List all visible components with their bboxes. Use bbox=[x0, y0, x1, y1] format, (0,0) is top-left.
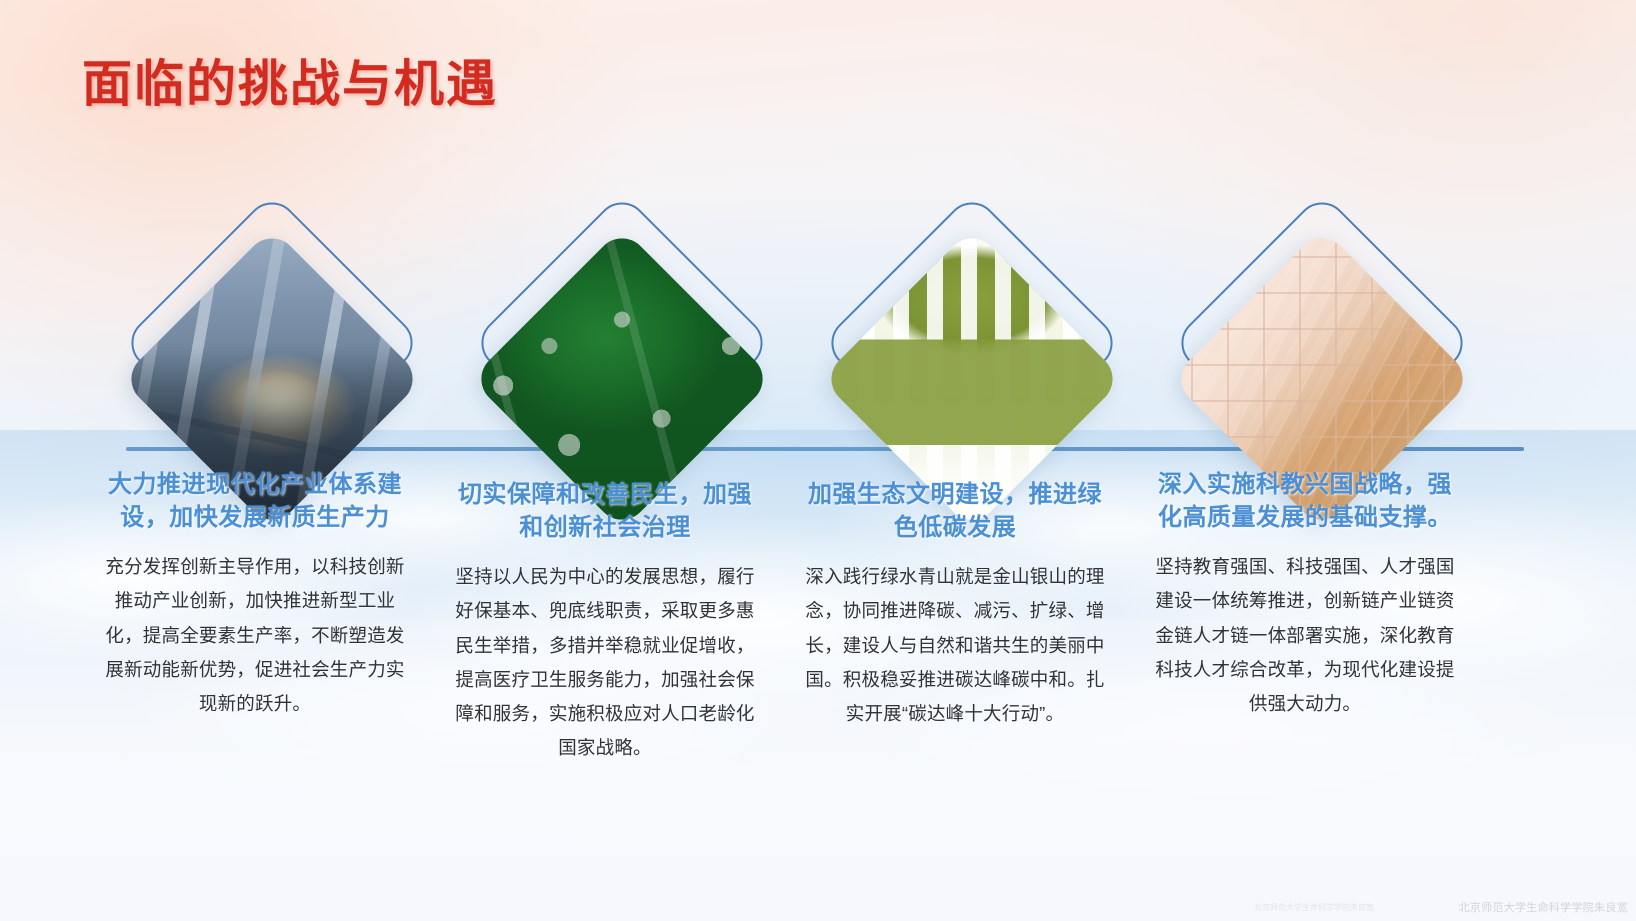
text-column-3: 加强生态文明建设，推进绿色低碳发展 深入践行绿水青山就是金山银山的理念，协同推进… bbox=[805, 478, 1105, 731]
column-heading-2: 切实保障和改善民生，加强和创新社会治理 bbox=[455, 478, 755, 544]
diamond-card-row bbox=[0, 0, 1636, 921]
watermark: 北京师范大学生命科学学院朱良宽 bbox=[1459, 899, 1629, 915]
column-body-3: 深入践行绿水青山就是金山银山的理念，协同推进降碳、减污、扩绿、增长，建设人与自然… bbox=[805, 560, 1105, 731]
column-heading-1: 大力推进现代化产业体系建设，加快发展新质生产力 bbox=[105, 468, 405, 534]
column-heading-3: 加强生态文明建设，推进绿色低碳发展 bbox=[805, 478, 1105, 544]
column-body-2: 坚持以人民为中心的发展思想，履行好保基本、兜底线职责，采取更多惠民生举措，多措并… bbox=[455, 560, 755, 765]
text-column-2: 切实保障和改善民生，加强和创新社会治理 坚持以人民为中心的发展思想，履行好保基本… bbox=[455, 478, 755, 766]
text-column-1: 大力推进现代化产业体系建设，加快发展新质生产力 充分发挥创新主导作用，以科技创新… bbox=[105, 468, 405, 721]
column-body-1: 充分发挥创新主导作用，以科技创新推动产业创新，加快推进新型工业化，提高全要素生产… bbox=[105, 550, 405, 721]
column-body-4: 坚持教育强国、科技强国、人才强国建设一体统筹推进，创新链产业链资金链人才链一体部… bbox=[1155, 550, 1455, 721]
watermark-faint: 北京师范大学生命科学学院朱良宽 bbox=[1254, 902, 1374, 913]
column-heading-4: 深入实施科教兴国战略，强化高质量发展的基础支撑。 bbox=[1155, 468, 1455, 534]
text-column-4: 深入实施科教兴国战略，强化高质量发展的基础支撑。 坚持教育强国、科技强国、人才强… bbox=[1155, 468, 1455, 721]
